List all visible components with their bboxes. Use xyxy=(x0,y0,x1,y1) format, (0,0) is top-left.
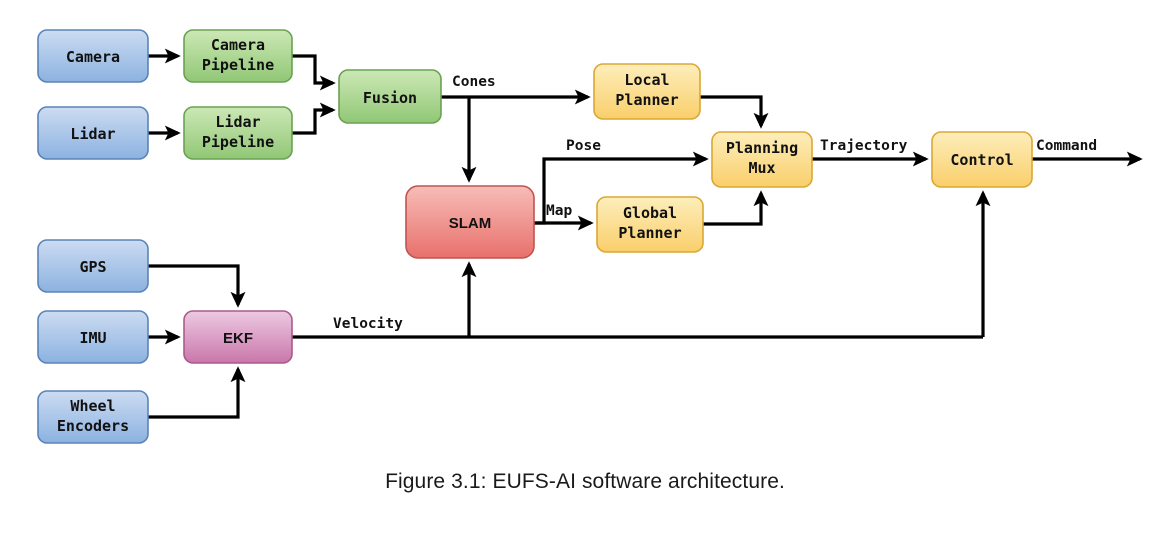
edge-label-pose: Pose xyxy=(566,138,601,154)
edge-label-velocity: Velocity xyxy=(333,316,403,332)
edge-lidar-pipeline-to-fusion xyxy=(292,110,333,133)
node-wheel-encoders-label-line2: Encoders xyxy=(57,417,129,435)
node-gps-label: GPS xyxy=(79,258,106,276)
node-imu[interactable]: IMU xyxy=(38,311,148,363)
node-layer: Camera Lidar Camera Pipeline Lidar Pipel… xyxy=(38,30,1032,443)
edge-label-map: Map xyxy=(546,203,572,219)
node-imu-label: IMU xyxy=(79,329,106,347)
architecture-diagram: Cones Pose Map Trajectory Command Veloci… xyxy=(0,0,1170,535)
edge-wheel-encoders-to-ekf xyxy=(148,369,238,417)
node-local-planner-label-line1: Local xyxy=(624,71,669,89)
edge-label-cones: Cones xyxy=(452,74,496,90)
node-local-planner[interactable]: Local Planner xyxy=(594,64,700,119)
node-global-planner[interactable]: Global Planner xyxy=(597,197,703,252)
node-camera-label: Camera xyxy=(66,48,120,66)
node-ekf-label: EKF xyxy=(223,330,253,347)
node-wheel-encoders-label-line1: Wheel xyxy=(70,397,115,415)
node-planning-mux[interactable]: Planning Mux xyxy=(712,132,812,187)
edge-label-command: Command xyxy=(1036,138,1097,154)
node-fusion-label: Fusion xyxy=(363,89,417,107)
node-control[interactable]: Control xyxy=(932,132,1032,187)
node-wheel-encoders[interactable]: Wheel Encoders xyxy=(38,391,148,443)
node-camera-pipeline[interactable]: Camera Pipeline xyxy=(184,30,292,82)
node-lidar-pipeline[interactable]: Lidar Pipeline xyxy=(184,107,292,159)
node-fusion[interactable]: Fusion xyxy=(339,70,441,123)
node-camera-pipeline-label-line2: Pipeline xyxy=(202,56,274,74)
node-camera[interactable]: Camera xyxy=(38,30,148,82)
node-lidar-pipeline-label-line2: Pipeline xyxy=(202,133,274,151)
node-slam-label: SLAM xyxy=(449,215,492,232)
node-lidar-pipeline-label-line1: Lidar xyxy=(215,113,260,131)
node-planning-mux-label-line2: Mux xyxy=(748,159,775,177)
edge-global-planner-to-planning-mux xyxy=(703,193,761,224)
node-planning-mux-label-line1: Planning xyxy=(726,139,798,157)
node-control-label: Control xyxy=(950,151,1013,169)
node-local-planner-label-line2: Planner xyxy=(615,91,678,109)
node-ekf[interactable]: EKF xyxy=(184,311,292,363)
node-global-planner-label-line2: Planner xyxy=(618,224,681,242)
edge-local-planner-to-planning-mux xyxy=(700,97,761,126)
edge-gps-to-ekf xyxy=(148,266,238,305)
edge-camera-pipeline-to-fusion xyxy=(292,56,333,83)
node-lidar[interactable]: Lidar xyxy=(38,107,148,159)
figure-container: Cones Pose Map Trajectory Command Veloci… xyxy=(0,0,1170,535)
node-global-planner-label-line1: Global xyxy=(623,204,677,222)
node-slam[interactable]: SLAM xyxy=(406,186,534,258)
edge-label-trajectory: Trajectory xyxy=(820,138,908,154)
node-lidar-label: Lidar xyxy=(70,125,115,143)
node-camera-pipeline-label-line1: Camera xyxy=(211,36,265,54)
figure-caption: Figure 3.1: EUFS-AI software architectur… xyxy=(0,470,1170,494)
node-gps[interactable]: GPS xyxy=(38,240,148,292)
